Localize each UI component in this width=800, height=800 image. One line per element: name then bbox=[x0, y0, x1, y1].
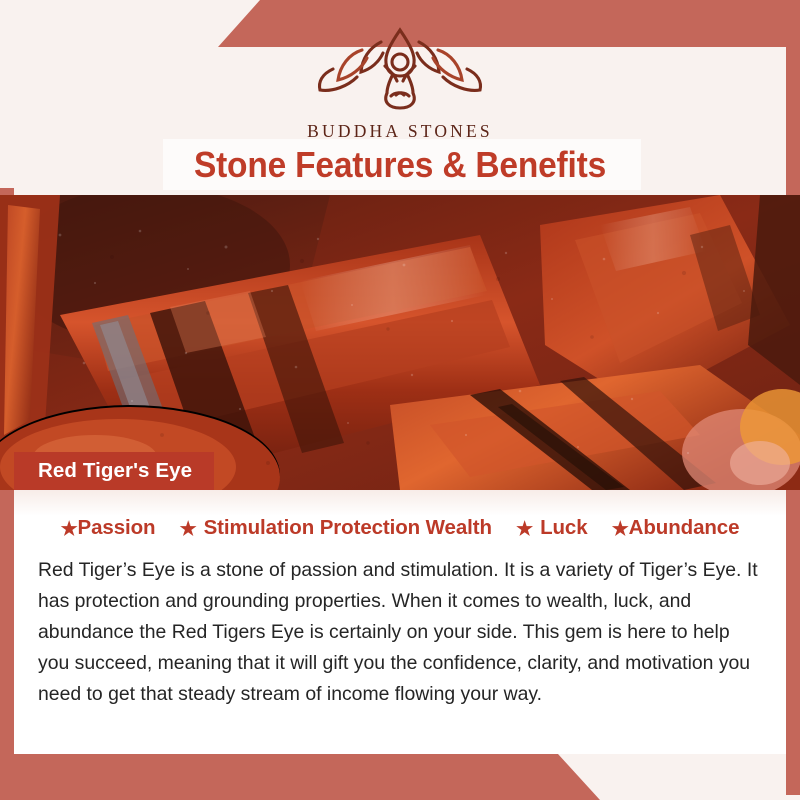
star-icon: ★ bbox=[180, 520, 197, 539]
brand-logo: BUDDHA STONES bbox=[0, 22, 800, 142]
keyword-item-passion: ★Passion bbox=[61, 516, 156, 540]
content-top-fade bbox=[14, 490, 786, 516]
keyword-label: Luck bbox=[540, 516, 587, 539]
brand-name: BUDDHA STONES bbox=[307, 121, 493, 142]
page-title: Stone Features & Benefits bbox=[28, 140, 772, 190]
red-tigers-eye-stones-photo bbox=[0, 195, 800, 490]
keyword-label: Passion bbox=[78, 516, 156, 539]
stone-description: Red Tiger’s Eye is a stone of passion an… bbox=[38, 555, 766, 710]
poster-root: BUDDHA STONES Stone Features & Benefits bbox=[0, 0, 800, 800]
keyword-label: Stimulation Protection Wealth bbox=[204, 516, 492, 539]
content-card: ★Passion ★Stimulation Protection Wealth … bbox=[14, 490, 786, 754]
keyword-item-abundance: ★Abundance bbox=[612, 516, 740, 540]
keyword-item-stimulation-protection-wealth: ★Stimulation Protection Wealth bbox=[180, 516, 492, 540]
keyword-item-luck: ★Luck bbox=[516, 516, 587, 540]
decorative-band-bottom bbox=[0, 754, 600, 800]
lotus-meditation-icon bbox=[315, 22, 485, 115]
star-icon: ★ bbox=[61, 520, 78, 539]
keyword-label: Abundance bbox=[629, 516, 740, 539]
star-icon: ★ bbox=[516, 520, 533, 539]
star-icon: ★ bbox=[612, 520, 629, 539]
keyword-list: ★Passion ★Stimulation Protection Wealth … bbox=[14, 516, 786, 540]
stone-name-banner: Red Tiger's Eye bbox=[14, 452, 214, 490]
stone-name-label: Red Tiger's Eye bbox=[38, 459, 192, 483]
